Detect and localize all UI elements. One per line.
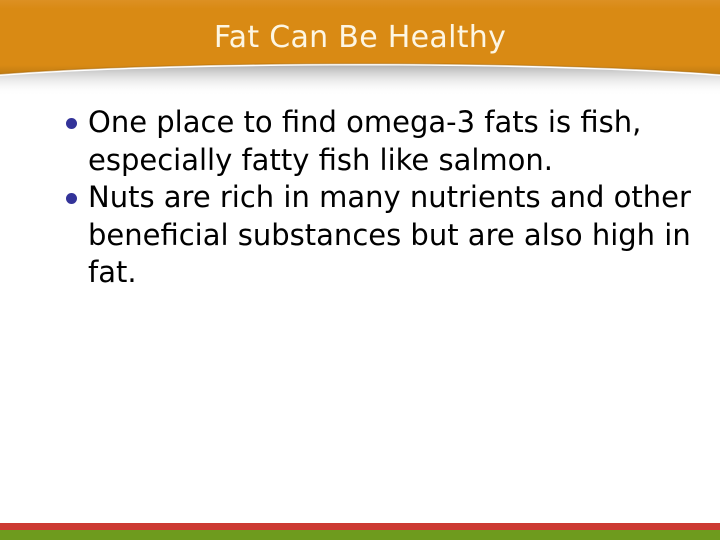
slide-body: One place to find omega-3 fats is fish, …	[0, 104, 720, 514]
list-item-text: Nuts are rich in many nutrients and othe…	[88, 180, 691, 289]
slide-header-banner: Fat Can Be Healthy	[0, 0, 720, 96]
bullet-list: One place to find omega-3 fats is fish, …	[0, 104, 720, 292]
footer-accent-bar-green	[0, 530, 720, 540]
bullet-point-icon	[66, 193, 77, 204]
page-title: Fat Can Be Healthy	[0, 20, 720, 56]
header-shadow	[0, 66, 720, 97]
bullet-point-icon	[66, 118, 77, 129]
list-item: One place to find omega-3 fats is fish, …	[0, 104, 720, 179]
list-item: Nuts are rich in many nutrients and othe…	[0, 179, 720, 292]
footer-accent-bar-red	[0, 523, 720, 530]
list-item-text: One place to find omega-3 fats is fish, …	[88, 105, 641, 177]
presentation-slide: Fat Can Be Healthy One place to find ome…	[0, 0, 720, 540]
